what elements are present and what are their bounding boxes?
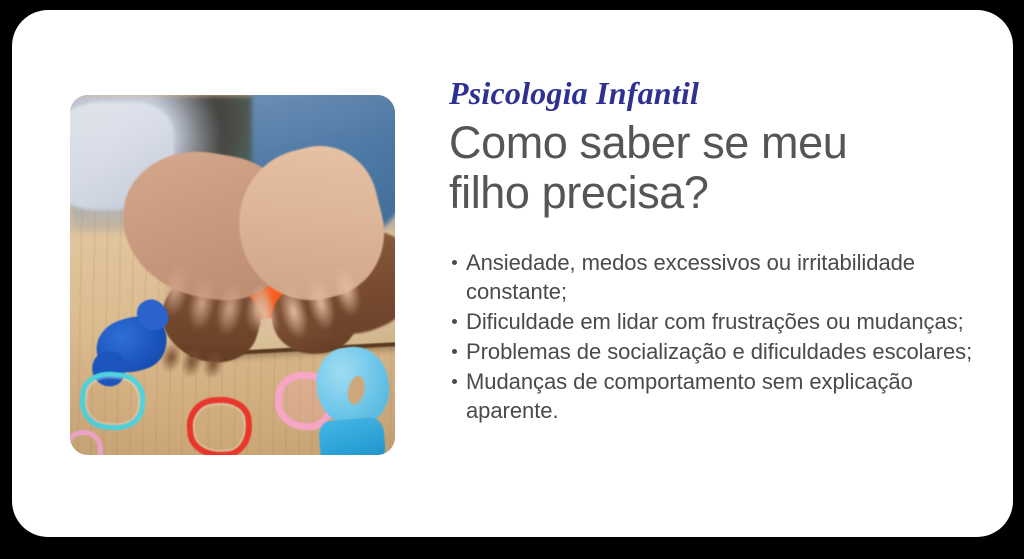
page-title: Como saber se meu filho precisa? bbox=[449, 118, 994, 218]
photo-blue-dough-cylinder bbox=[318, 416, 387, 455]
info-card: Psicologia Infantil Como saber se meu fi… bbox=[12, 10, 1013, 537]
list-item: Problemas de socialização e dificuldades… bbox=[449, 337, 994, 366]
text-column: Psicologia Infantil Como saber se meu fi… bbox=[449, 76, 994, 426]
screenshot-root: Psicologia Infantil Como saber se meu fi… bbox=[0, 0, 1024, 559]
list-item: Dificuldade em lidar com frustrações ou … bbox=[449, 307, 994, 336]
symptom-list: Ansiedade, medos excessivos ou irritabil… bbox=[449, 248, 994, 425]
list-item: Mudanças de comportamento sem explicação… bbox=[449, 367, 994, 425]
hero-photo bbox=[70, 95, 395, 455]
photo-teal-cookie-cutter bbox=[77, 369, 147, 432]
eyebrow-label: Psicologia Infantil bbox=[449, 76, 994, 112]
list-item: Ansiedade, medos excessivos ou irritabil… bbox=[449, 248, 994, 306]
photo-table-background bbox=[70, 95, 395, 455]
photo-pink-cutter-small bbox=[70, 427, 106, 455]
photo-red-cookie-cutter bbox=[185, 395, 254, 455]
